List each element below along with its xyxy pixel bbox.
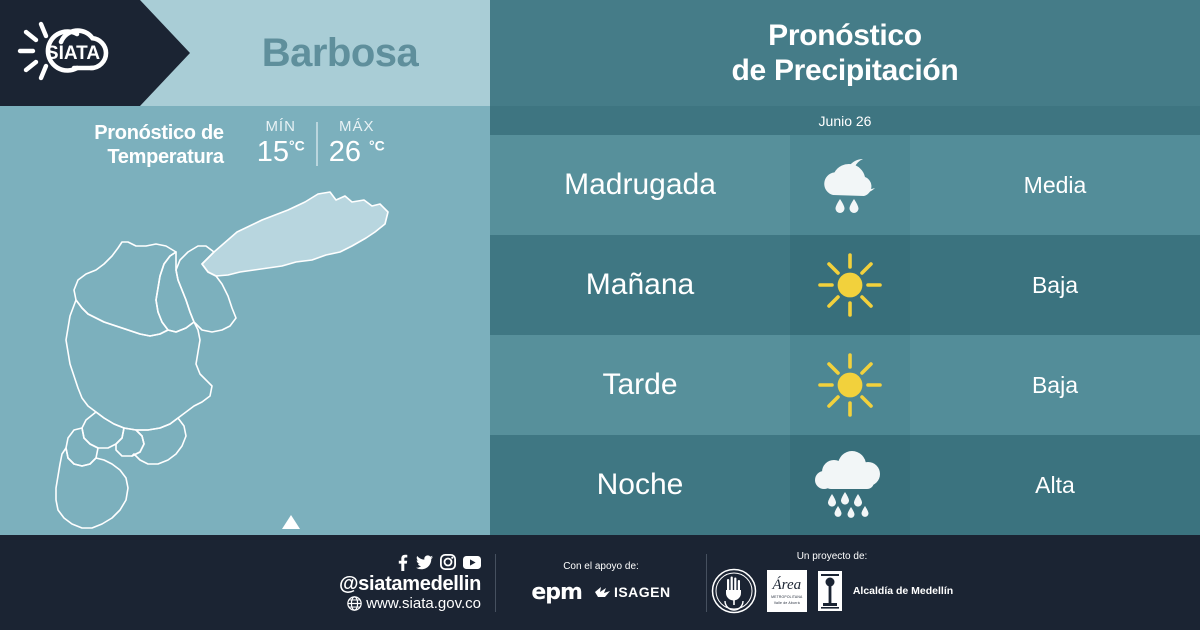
forecast-row[interactable]: Noche xyxy=(490,435,1200,535)
udea-seal-icon[interactable] xyxy=(711,568,757,614)
social-icon-row xyxy=(300,554,481,571)
project-column: Un proyecto de: xyxy=(707,551,957,614)
footer-bar: @siatamedellin www.siata.gov.co Con el a… xyxy=(0,535,1200,630)
sun-icon xyxy=(817,352,883,418)
amva-wordmark: Área xyxy=(773,578,802,593)
temperature-min-label: MÍN xyxy=(257,118,305,135)
forecast-date-bar: Junio 26 xyxy=(490,106,1200,135)
siata-logo-badge[interactable]: SIATA xyxy=(0,0,190,106)
map-region-barbosa xyxy=(202,192,388,276)
forecast-period-cell: Noche xyxy=(490,435,790,535)
right-panel: Pronóstico de Precipitación Junio 26 Mad… xyxy=(490,0,1200,535)
forecast-period-cell: Tarde xyxy=(490,335,790,435)
temperature-max-unit: °C xyxy=(369,137,385,153)
cloud-heavy-rain-icon xyxy=(812,450,888,520)
map-region-envigado xyxy=(132,418,186,464)
project-label: Un proyecto de: xyxy=(707,551,957,562)
map-region-caldas xyxy=(56,448,128,528)
forecast-title: Pronóstico de Precipitación xyxy=(732,18,959,89)
temperature-max: MÁX 26 °C xyxy=(318,118,396,167)
temperature-max-value: 26 °C xyxy=(329,137,385,167)
forecast-title-line1: Pronóstico xyxy=(732,18,959,53)
forecast-header: Pronóstico de Precipitación xyxy=(490,0,1200,106)
siata-logo-text: SIATA xyxy=(46,43,100,64)
moon-cloud-rain-icon xyxy=(813,155,887,215)
project-logo-row: Área METROPOLITANA Valle de Aburrá xyxy=(707,568,957,614)
map-region-bello xyxy=(74,242,176,336)
forecast-period-cell: Madrugada xyxy=(490,135,790,235)
alcaldia-label: Alcaldía de Medellín xyxy=(853,585,953,597)
forecast-period-label: Noche xyxy=(597,468,684,502)
support-column: Con el apoyo de: epm ISAGEN xyxy=(496,561,706,605)
amva-logo[interactable]: Área METROPOLITANA Valle de Aburrá xyxy=(767,570,807,612)
forecast-probability-label: Baja xyxy=(1032,272,1078,299)
weather-forecast-poster: SIATA Barbosa Pronóstico de Temperatura … xyxy=(0,0,1200,630)
forecast-row[interactable]: Tarde xyxy=(490,335,1200,435)
temperature-title: Pronóstico de Temperatura xyxy=(94,118,223,170)
temperature-min: MÍN 15°C xyxy=(246,118,316,167)
website-row[interactable]: www.siata.gov.co xyxy=(300,595,481,612)
forecast-icon-cell xyxy=(790,135,910,235)
north-arrow-icon xyxy=(277,513,305,533)
temperature-divider xyxy=(316,122,318,166)
forecast-period-label: Mañana xyxy=(586,268,694,302)
left-header-bar: SIATA Barbosa xyxy=(0,0,490,106)
city-title: Barbosa xyxy=(190,0,490,106)
forecast-icon-cell xyxy=(790,435,910,535)
temperature-title-line2: Temperatura xyxy=(94,145,223,169)
youtube-icon[interactable] xyxy=(463,556,481,569)
temperature-max-label: MÁX xyxy=(329,118,385,135)
forecast-probability-label: Baja xyxy=(1032,372,1078,399)
forecast-row[interactable]: Mañana xyxy=(490,235,1200,335)
left-panel: SIATA Barbosa Pronóstico de Temperatura … xyxy=(0,0,490,535)
epm-logo[interactable]: epm xyxy=(531,580,582,605)
sun-cloud-icon: SIATA xyxy=(14,20,134,87)
forecast-row[interactable]: Madrugada Media xyxy=(490,135,1200,235)
forecast-probability-cell: Media xyxy=(910,135,1200,235)
temperature-values: MÍN 15°C MÁX 26 °C xyxy=(246,118,396,167)
forecast-rows: Madrugada Media Mañana xyxy=(490,135,1200,535)
twitter-icon[interactable] xyxy=(416,554,433,571)
footer-content: @siatamedellin www.siata.gov.co Con el a… xyxy=(300,535,980,630)
temperature-block: Pronóstico de Temperatura MÍN 15°C MÁX 2… xyxy=(0,118,490,188)
forecast-icon-cell xyxy=(790,335,910,435)
forecast-period-cell: Mañana xyxy=(490,235,790,335)
map-region-medellin xyxy=(66,300,212,430)
isagen-label: ISAGEN xyxy=(614,584,671,600)
forecast-probability-label: Media xyxy=(1024,172,1087,199)
temperature-min-value: 15°C xyxy=(257,137,305,167)
globe-icon xyxy=(347,596,362,611)
forecast-period-label: Madrugada xyxy=(564,168,716,202)
temperature-title-line1: Pronóstico de xyxy=(94,121,223,145)
forecast-probability-cell: Baja xyxy=(910,335,1200,435)
forecast-icon-cell xyxy=(790,235,910,335)
social-handle[interactable]: @siatamedellin xyxy=(300,573,481,595)
support-label: Con el apoyo de: xyxy=(506,561,696,572)
forecast-date: Junio 26 xyxy=(819,113,872,129)
forecast-probability-cell: Baja xyxy=(910,235,1200,335)
sun-icon xyxy=(817,252,883,318)
social-column: @siatamedellin www.siata.gov.co xyxy=(300,554,495,612)
forecast-probability-label: Alta xyxy=(1035,472,1075,499)
forecast-period-label: Tarde xyxy=(602,368,677,402)
temperature-min-unit: °C xyxy=(289,137,305,153)
facebook-icon[interactable] xyxy=(396,554,409,571)
support-logo-row: epm ISAGEN xyxy=(506,580,696,605)
website-url: www.siata.gov.co xyxy=(366,595,481,612)
amva-subtitle: METROPOLITANA xyxy=(771,595,802,599)
forecast-probability-cell: Alta xyxy=(910,435,1200,535)
alcaldia-crest-icon[interactable] xyxy=(817,570,843,612)
isagen-logo[interactable]: ISAGEN xyxy=(594,584,671,600)
aburra-valley-map[interactable]: N xyxy=(0,180,490,535)
isagen-mark-icon xyxy=(594,585,611,599)
instagram-icon[interactable] xyxy=(440,554,456,570)
amva-subtitle-2: Valle de Aburrá xyxy=(774,601,800,605)
forecast-title-line2: de Precipitación xyxy=(732,53,959,88)
